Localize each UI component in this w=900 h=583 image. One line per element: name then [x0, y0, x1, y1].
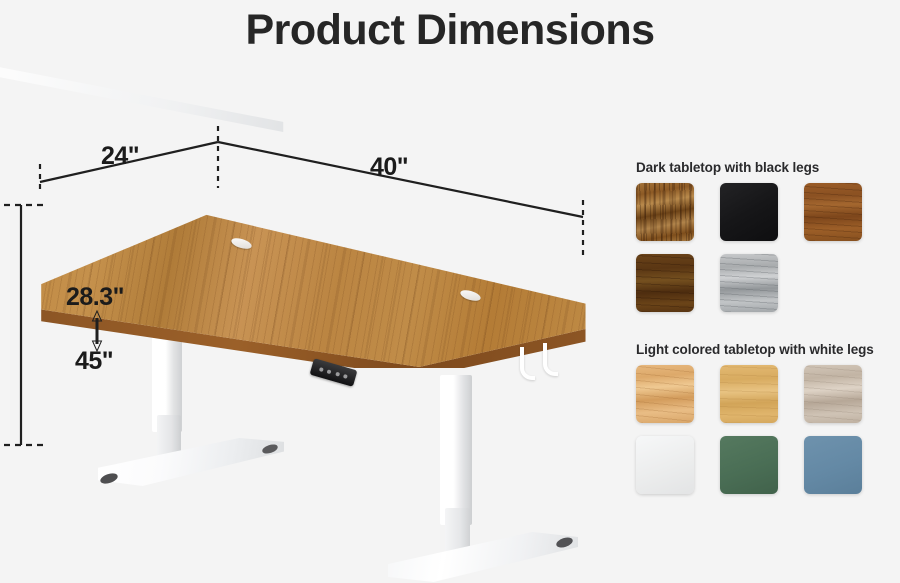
dark-group-heading: Dark tabletop with black legs	[636, 160, 900, 175]
panel-group-divider	[628, 312, 900, 342]
light-group-heading: Light colored tabletop with white legs	[636, 342, 900, 357]
swatch-blue[interactable]	[804, 436, 862, 494]
swatch-rustic-brown[interactable]	[636, 183, 694, 241]
dark-swatch-grid	[636, 183, 900, 312]
finish-options-panel: Dark tabletop with black legs Light colo…	[628, 160, 900, 570]
swatch-dark-walnut[interactable]	[636, 254, 694, 312]
swatch-black[interactable]	[720, 183, 778, 241]
dimension-lines	[0, 60, 620, 583]
product-dimensions-infographic: Product Dimensions	[0, 0, 900, 583]
page-title: Product Dimensions	[0, 2, 900, 58]
swatch-light-grey-oak[interactable]	[804, 365, 862, 423]
min-height-dimension-label: 28.3"	[66, 283, 124, 312]
swatch-grey-wood[interactable]	[720, 254, 778, 312]
height-range-arrow	[93, 311, 102, 351]
max-height-dimension-label: 45"	[75, 347, 113, 376]
swatch-medium-brown[interactable]	[804, 183, 862, 241]
desk-illustration: 24" 40" 28.3" 45"	[0, 60, 620, 583]
width-dimension-label: 40"	[370, 153, 408, 182]
swatch-green[interactable]	[720, 436, 778, 494]
swatch-white[interactable]	[636, 436, 694, 494]
light-swatch-grid	[636, 365, 900, 494]
swatch-light-maple[interactable]	[636, 365, 694, 423]
depth-dimension-label: 24"	[101, 142, 139, 171]
swatch-honey-oak[interactable]	[720, 365, 778, 423]
